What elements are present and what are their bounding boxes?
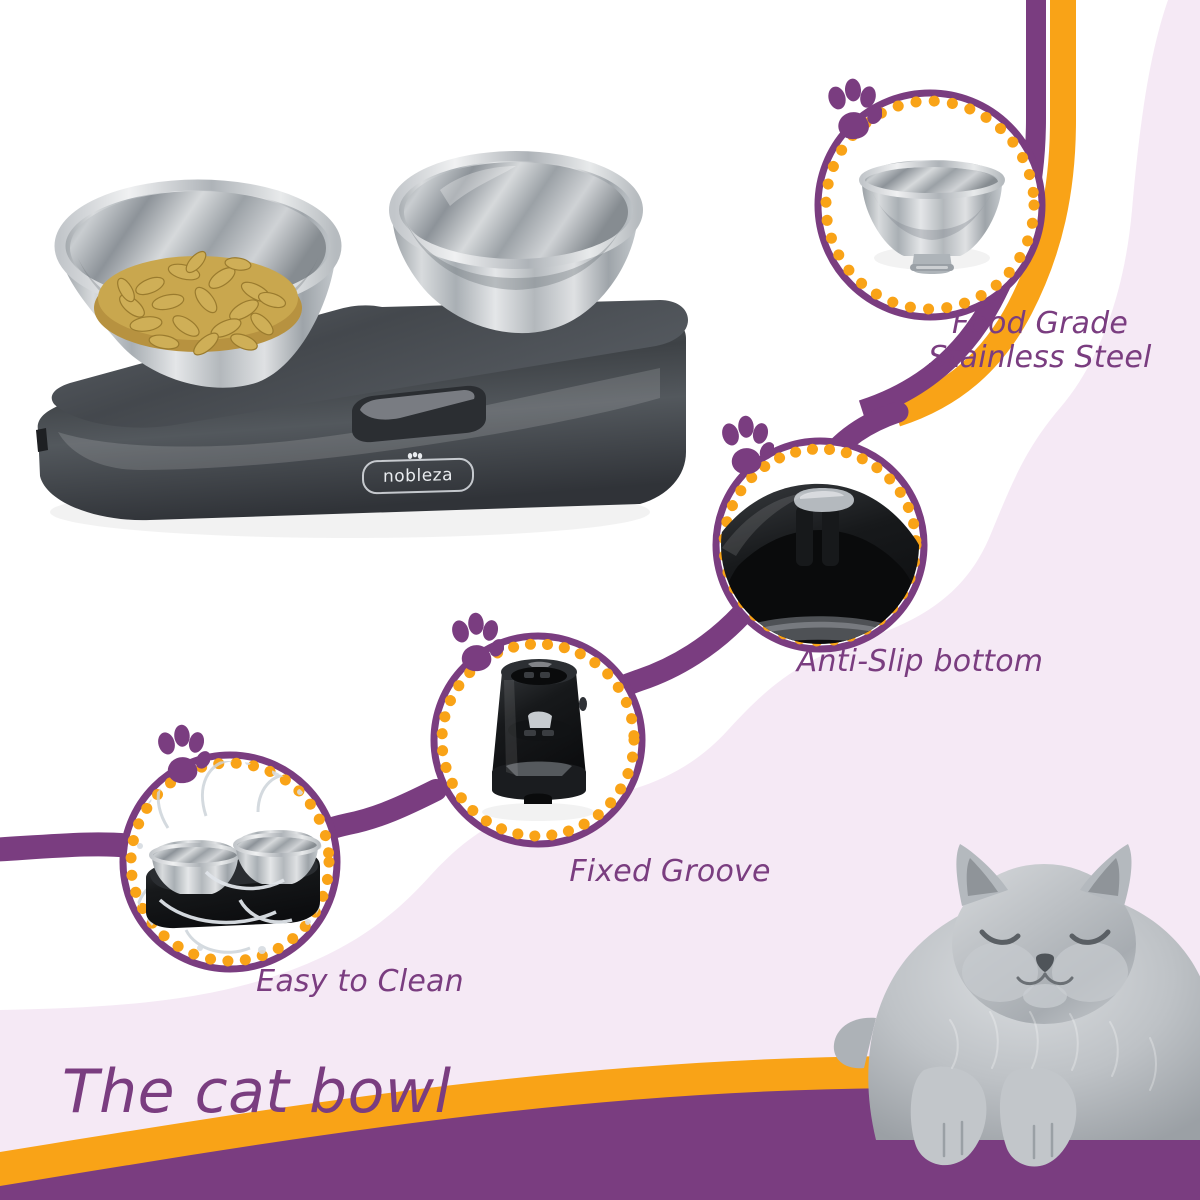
cat-illustration: [834, 844, 1200, 1167]
feature-label-easy-to-clean: Easy to Clean: [190, 965, 530, 999]
feature-label-fixed-groove: Fixed Groove: [510, 855, 830, 889]
feature-label-food-grade-stainless-steel: Food Grade Stainless Steel: [880, 307, 1200, 374]
cat-photo: [0, 0, 1200, 1200]
page-title: The cat bowl: [62, 1057, 452, 1127]
feature-label-anti-slip-bottom: Anti-Slip bottom: [760, 645, 1080, 679]
infographic-canvas: nobleza: [0, 0, 1200, 1200]
